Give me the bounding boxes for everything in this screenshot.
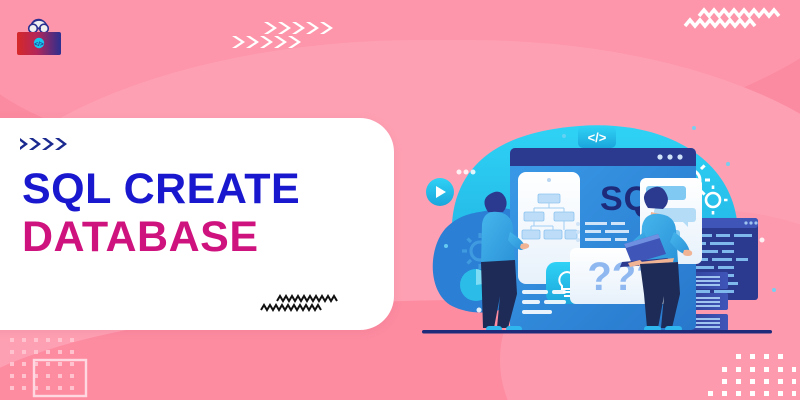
sql-database-illustration: </> xyxy=(418,120,790,345)
dot-grid-triangle xyxy=(700,348,796,400)
banner-root: </> xyxy=(0,0,800,400)
top-zigzag-lines xyxy=(683,6,795,45)
dot-grid-with-square xyxy=(4,332,100,400)
play-button-icon xyxy=(426,178,454,206)
svg-text:</>: </> xyxy=(34,41,44,48)
title-line-two: DATABASE xyxy=(22,212,372,262)
brand-logo[interactable]: </> xyxy=(10,12,68,58)
page-title: SQL CREATE DATABASE xyxy=(22,166,372,262)
zigzag-underline xyxy=(255,290,355,325)
card-chevron-arrows xyxy=(20,136,90,157)
ground-line xyxy=(422,330,772,334)
top-chevron-arrows xyxy=(232,6,342,57)
code-tag-label: </> xyxy=(588,130,607,145)
code-tag-icon: </> xyxy=(578,126,616,148)
title-line-one: SQL CREATE xyxy=(22,166,372,212)
